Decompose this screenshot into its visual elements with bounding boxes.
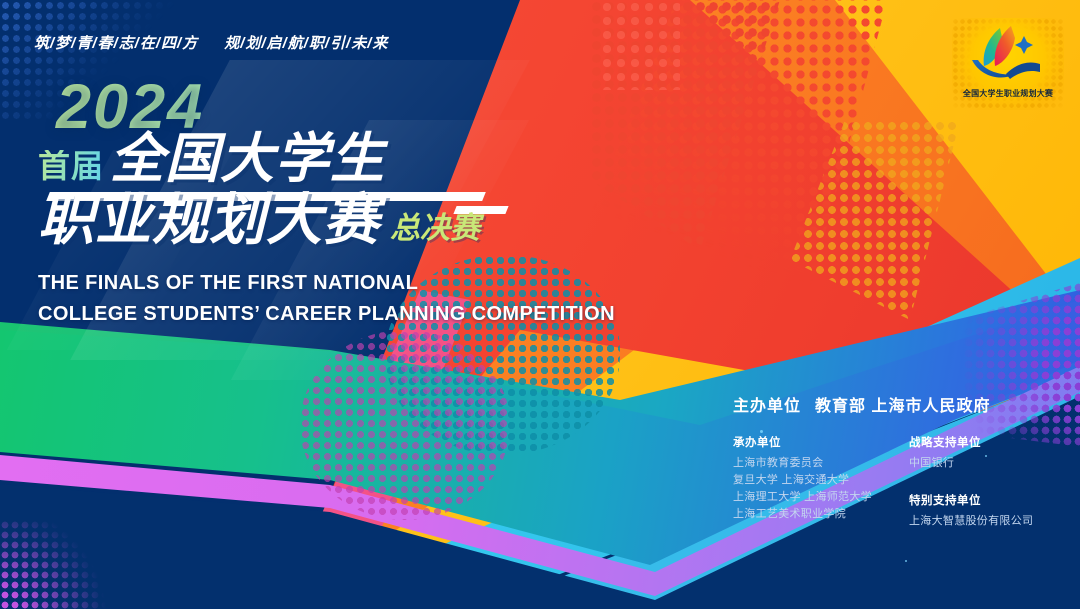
- special-support-body: 上海大智慧股份有限公司: [909, 513, 1059, 530]
- sponsor-columns: 承办单位 上海市教育委员会 复旦大学 上海交通大学 上海理工大学 上海师范大学 …: [733, 434, 1063, 530]
- headline-row-1: 首届 全国大学生: [38, 132, 615, 186]
- strategic-support-header: 战略支持单位: [909, 434, 1059, 450]
- strategic-support-body: 中国银行: [909, 455, 1059, 472]
- english-subtitle: THE FINALS OF THE FIRST NATIONAL COLLEGE…: [38, 268, 615, 330]
- organizer-line-4: 上海工艺美术职业学院: [733, 506, 883, 523]
- finals-badge: 总决赛: [390, 214, 480, 248]
- sponsor-spacer: [909, 472, 1059, 492]
- logo-caption: 全国大学生职业规划大赛: [952, 88, 1064, 99]
- host-line: 主办单位 教育部 上海市人民政府: [733, 392, 1063, 416]
- organizer-line-1: 上海市教育委员会: [733, 455, 883, 472]
- logo-sail-icon: [966, 24, 1050, 91]
- poster-canvas: 筑/梦/青/春/志/在/四/方 规/划/启/航/职/引/未/来 2024 首届 …: [0, 0, 1080, 609]
- host-label: 主办单位: [733, 392, 801, 416]
- organizer-line-3: 上海理工大学 上海师范大学: [733, 489, 883, 506]
- tagline-text-2: 规/划/启/航/职/引/未/来: [224, 36, 388, 51]
- english-subtitle-line-2: COLLEGE STUDENTS’ CAREER PLANNING COMPET…: [38, 299, 615, 330]
- sponsor-column-organizer: 承办单位 上海市教育委员会 复旦大学 上海交通大学 上海理工大学 上海师范大学 …: [733, 434, 883, 530]
- organizer-line-2: 复旦大学 上海交通大学: [733, 472, 883, 489]
- sponsor-column-support: 战略支持单位 中国银行 特别支持单位 上海大智慧股份有限公司: [909, 434, 1059, 530]
- tagline-group-1: 筑/梦/青/春/志/在/四/方: [34, 36, 198, 51]
- host-names: 教育部 上海市人民政府: [815, 392, 990, 416]
- headline-row-2: 职业规划大赛 总决赛: [38, 192, 615, 248]
- organizer-header: 承办单位: [733, 434, 883, 450]
- sponsor-block: 主办单位 教育部 上海市人民政府 承办单位 上海市教育委员会 复旦大学 上海交通…: [733, 392, 1063, 530]
- tagline: 筑/梦/青/春/志/在/四/方 规/划/启/航/职/引/未/来: [34, 36, 388, 51]
- special-support-header: 特别支持单位: [909, 492, 1059, 508]
- first-edition-badge: 首届: [38, 150, 104, 186]
- competition-logo: 全国大学生职业规划大赛: [952, 18, 1064, 110]
- sparkle-dot: [905, 560, 907, 562]
- english-subtitle-line-1: THE FINALS OF THE FIRST NATIONAL: [38, 268, 615, 299]
- headline-line-2: 职业规划大赛: [38, 192, 380, 248]
- tagline-text-1: 筑/梦/青/春/志/在/四/方: [34, 36, 198, 51]
- tagline-group-2: 规/划/启/航/职/引/未/来: [224, 36, 388, 51]
- headline-block: 2024 首届 全国大学生 职业规划大赛 总决赛 THE FINALS OF T…: [38, 78, 615, 330]
- headline-line-1: 全国大学生: [110, 132, 385, 186]
